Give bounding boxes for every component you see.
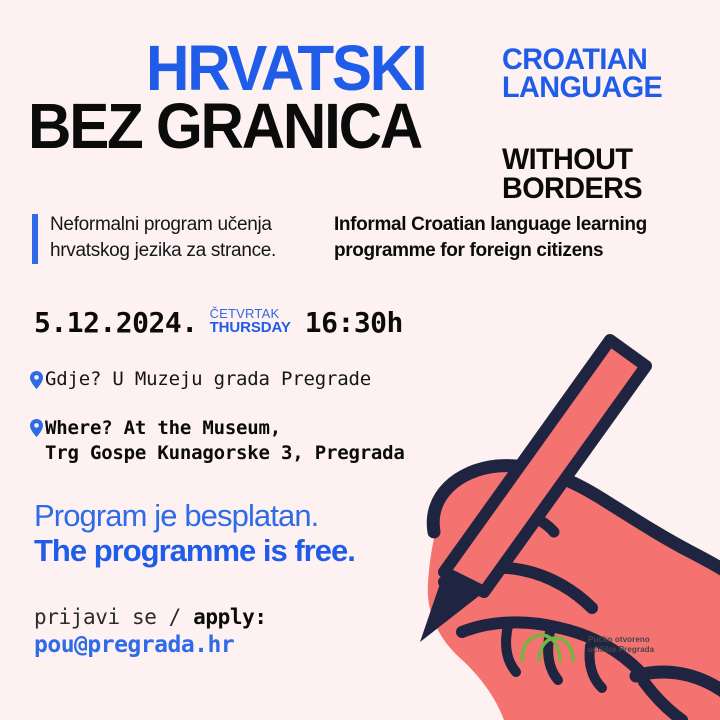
headline-en-line1: CROATIAN bbox=[502, 46, 662, 74]
location-english-row: Where? At the Museum, Trg Gospe Kunagors… bbox=[30, 416, 405, 466]
apply-label-english: apply: bbox=[193, 605, 266, 629]
headline-en-blue: CROATIAN LANGUAGE bbox=[502, 46, 669, 101]
event-day-stack: ČETVRTAK THURSDAY bbox=[210, 307, 291, 338]
headline-en-black: WITHOUT BORDERS bbox=[502, 146, 648, 203]
headline-en-line4: BORDERS bbox=[502, 175, 642, 204]
apply-label: prijavi se / apply: bbox=[34, 604, 267, 631]
double-arch-logo-icon bbox=[518, 628, 580, 662]
sponsor-logo: Pučko otvoreno učilište Pregrada bbox=[518, 628, 654, 662]
headline-en-line2: LANGUAGE bbox=[502, 74, 662, 102]
subtitle-english: Informal Croatian language learning prog… bbox=[334, 212, 714, 264]
event-day-english: THURSDAY bbox=[210, 320, 291, 335]
apply-email-address[interactable]: pou@pregrada.hr bbox=[34, 631, 267, 661]
map-pin-icon bbox=[30, 419, 43, 437]
headline-en-line3: WITHOUT bbox=[502, 146, 642, 175]
apply-label-croatian: prijavi se / bbox=[34, 605, 193, 629]
free-programme-block: Program je besplatan. The programme is f… bbox=[34, 498, 355, 569]
accent-bar-icon bbox=[32, 214, 38, 264]
subtitle-block: Neformalni program učenja hrvatskog jezi… bbox=[32, 212, 720, 264]
map-pin-icon bbox=[30, 371, 43, 389]
headline-hr-line2: BEZ GRANICA bbox=[28, 94, 421, 158]
free-text-croatian: Program je besplatan. bbox=[34, 498, 355, 533]
poster-canvas: HRVATSKI BEZ GRANICA CROATIAN LANGUAGE W… bbox=[0, 0, 720, 720]
event-day-croatian: ČETVRTAK bbox=[210, 307, 291, 320]
location-croatian-text: Gdje? U Muzeju grada Pregrade bbox=[45, 368, 371, 390]
poster-headline: HRVATSKI BEZ GRANICA CROATIAN LANGUAGE W… bbox=[0, 36, 700, 186]
event-date: 5.12.2024. bbox=[34, 306, 198, 339]
subtitle-croatian: Neformalni program učenja hrvatskog jezi… bbox=[50, 212, 332, 264]
event-time: 16:30h bbox=[305, 306, 403, 339]
location-croatian-row: Gdje? U Muzeju grada Pregrade bbox=[30, 368, 371, 390]
free-text-english: The programme is free. bbox=[34, 533, 355, 568]
apply-block: prijavi se / apply: pou@pregrada.hr bbox=[34, 604, 267, 661]
event-datetime-row: 5.12.2024. ČETVRTAK THURSDAY 16:30h bbox=[34, 306, 403, 339]
sponsor-name: Pučko otvoreno učilište Pregrada bbox=[588, 635, 654, 655]
location-english-text: Where? At the Museum, Trg Gospe Kunagors… bbox=[45, 416, 405, 466]
